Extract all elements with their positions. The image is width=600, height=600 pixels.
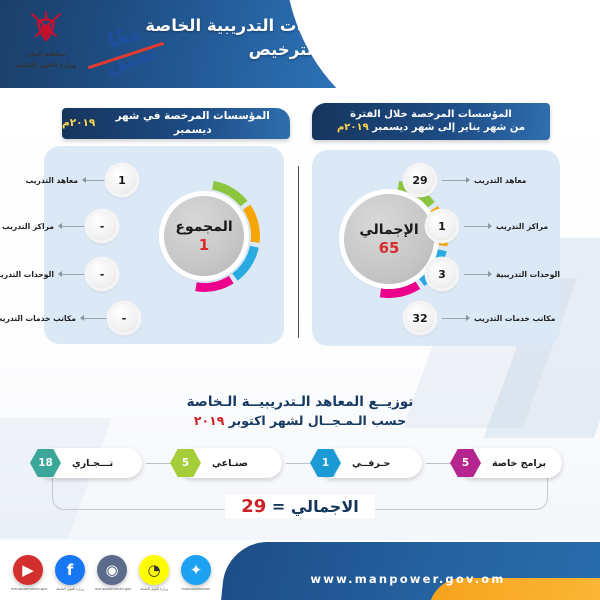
node-label-year-3: مكاتب خدمات التدريب xyxy=(474,314,555,323)
social-handle-youtube: manpoweroman.gov xyxy=(11,587,45,591)
arrow-december-1 xyxy=(58,223,62,229)
donut-hub-december: المجموع 1 xyxy=(164,196,244,276)
page-header: عدد المؤسسات التدريبية الخاصة حسب نوع ال… xyxy=(0,0,600,88)
category-pill-0[interactable]: تـــجـاري18 xyxy=(38,448,142,478)
category-label-1: صنـاعي xyxy=(212,458,248,469)
social-handle-instagram: manpoweroman.gov xyxy=(95,587,129,591)
bottom-total: الاجمالي = 29 xyxy=(0,495,600,518)
arrow-year-1 xyxy=(488,223,492,229)
category-hexagon-2: 1 xyxy=(310,449,341,477)
social-item-twitter[interactable]: ✦manpoweroman xyxy=(178,555,214,597)
category-pill-3[interactable]: برامج خاصة5 xyxy=(458,448,562,478)
arrow-year-0 xyxy=(466,177,470,183)
connector-december-1 xyxy=(62,226,88,227)
arrow-december-3 xyxy=(80,315,84,321)
connector-year-1 xyxy=(464,226,488,227)
bottom-title-line2-date: ٢٠١٩ xyxy=(194,413,225,428)
connector-december-2 xyxy=(62,274,88,275)
node-year-1[interactable]: 1 xyxy=(428,212,456,240)
panel-december-header-date: ٢٠١٩م xyxy=(62,117,95,130)
panel-year-header: المؤسسات المرخصة خلال الفترة من شهر يناي… xyxy=(312,103,550,140)
node-label-year-0: معاهد التدريب xyxy=(474,176,526,185)
emblem-line1: سلطنة عُمان xyxy=(8,50,84,61)
donut-hub-label-december: المجموع xyxy=(175,219,232,235)
category-link-2 xyxy=(426,463,454,464)
node-year-0[interactable]: 29 xyxy=(406,166,434,194)
donut-hub-value-year: 65 xyxy=(379,239,400,257)
category-pill-1[interactable]: صنـاعي5 xyxy=(178,448,282,478)
node-december-2[interactable]: - xyxy=(88,260,116,288)
facebook-icon[interactable]: f xyxy=(55,555,85,585)
emblem-line2: وزارة القوى العاملة xyxy=(8,61,84,72)
donut-hub-label-year: الإجمالي xyxy=(359,222,418,238)
category-label-3: برامج خاصة xyxy=(492,458,546,469)
panel-year-header-line1: المؤسسات المرخصة خلال الفترة xyxy=(350,109,512,122)
khanjar-swords-icon xyxy=(8,6,84,50)
category-hexagon-1: 5 xyxy=(170,449,201,477)
node-label-year-2: الوحدات التدريبية xyxy=(496,270,560,279)
panel-december-header-text: المؤسسات المرخصة في شهر ديسمبر xyxy=(95,110,290,136)
arrow-december-0 xyxy=(82,177,86,183)
snapchat-icon[interactable]: ◔ xyxy=(139,555,169,585)
node-label-year-1: مراكز التدريب xyxy=(496,222,548,231)
node-december-1[interactable]: - xyxy=(88,212,116,240)
category-label-2: حـرفــي xyxy=(352,458,390,469)
bottom-title-line2-text: حسب الـمـجــال لشهر اكتوبر xyxy=(229,413,406,428)
connector-year-2 xyxy=(464,274,488,275)
donut-hub-year: الإجمالي 65 xyxy=(344,194,434,284)
node-label-december-0: معاهد التدريب xyxy=(26,176,78,185)
bottom-total-value: 29 xyxy=(241,496,266,517)
arrow-year-3 xyxy=(466,315,470,321)
node-december-3[interactable]: - xyxy=(110,304,138,332)
node-december-0[interactable]: 1 xyxy=(108,166,136,194)
bottom-total-chip: الاجمالي = 29 xyxy=(225,495,374,518)
instagram-icon[interactable]: ◉ xyxy=(97,555,127,585)
panel-december-header: المؤسسات المرخصة في شهر ديسمبر ٢٠١٩م xyxy=(62,108,290,139)
bottom-title-line1: توزيــع المعاهد الـتدريبيــة الـخاصة xyxy=(0,392,600,412)
oman-national-emblem: سلطنة عُمان وزارة القوى العاملة xyxy=(8,6,84,82)
panel-year-header-line2-text: من شهر يناير إلى شهر ديسمبر xyxy=(372,122,525,133)
node-label-december-3: مكاتب خدمات التدريب xyxy=(0,314,76,323)
category-link-1 xyxy=(286,463,314,464)
connector-december-3 xyxy=(84,318,110,319)
node-year-2[interactable]: 3 xyxy=(428,260,456,288)
youtube-icon[interactable]: ▶ xyxy=(13,555,43,585)
category-link-0 xyxy=(146,463,174,464)
donut-chart-december: المجموع 1 xyxy=(148,180,260,292)
footer-website-url[interactable]: www.manpower.gov.om xyxy=(258,572,558,586)
social-item-youtube[interactable]: ▶manpoweroman.gov xyxy=(10,555,46,597)
social-item-facebook[interactable]: fوزارة القوى العاملة xyxy=(52,555,88,597)
connector-december-0 xyxy=(86,180,108,181)
social-item-instagram[interactable]: ◉manpoweroman.gov xyxy=(94,555,130,597)
category-pill-2[interactable]: حـرفــي1 xyxy=(318,448,422,478)
category-hexagon-3: 5 xyxy=(450,449,481,477)
panel-year-header-line2: من شهر يناير إلى شهر ديسمبر ٢٠١٩م xyxy=(337,122,525,135)
node-year-3[interactable]: 32 xyxy=(406,304,434,332)
bottom-title-line2: حسب الـمـجــال لشهر اكتوبر ٢٠١٩ xyxy=(0,412,600,431)
node-label-december-2: الوحدات التدريبية xyxy=(0,270,54,279)
header-white-wave xyxy=(287,0,600,88)
arrow-december-2 xyxy=(58,271,62,277)
panel-divider xyxy=(298,166,299,338)
node-label-december-1: مراكز التدريب xyxy=(2,222,54,231)
arrow-year-2 xyxy=(488,271,492,277)
emblem-text: سلطنة عُمان وزارة القوى العاملة xyxy=(8,50,84,71)
infographic-page: عدد المؤسسات التدريبية الخاصة حسب نوع ال… xyxy=(0,0,600,600)
bottom-section-title: توزيــع المعاهد الـتدريبيــة الـخاصة حسب… xyxy=(0,392,600,431)
panel-year-header-date: ٢٠١٩م xyxy=(337,122,369,133)
donut-hub-value-december: 1 xyxy=(199,236,209,254)
social-handle-twitter: manpoweroman xyxy=(179,587,213,591)
social-item-snapchat[interactable]: ◔وزارة القوى العاملة xyxy=(136,555,172,597)
connector-year-3 xyxy=(442,318,466,319)
bottom-total-label: الاجمالي = xyxy=(272,497,359,516)
category-label-0: تـــجـاري xyxy=(72,458,113,469)
social-links-row: ▶manpoweroman.govfوزارة القوى العاملة◉ma… xyxy=(10,555,220,597)
twitter-icon[interactable]: ✦ xyxy=(181,555,211,585)
category-pill-row: تـــجـاري18صنـاعي5حـرفــي1برامج خاصة5 xyxy=(38,446,562,480)
social-handle-snapchat: وزارة القوى العاملة xyxy=(137,587,171,591)
social-handle-facebook: وزارة القوى العاملة xyxy=(53,587,87,591)
connector-year-0 xyxy=(442,180,466,181)
